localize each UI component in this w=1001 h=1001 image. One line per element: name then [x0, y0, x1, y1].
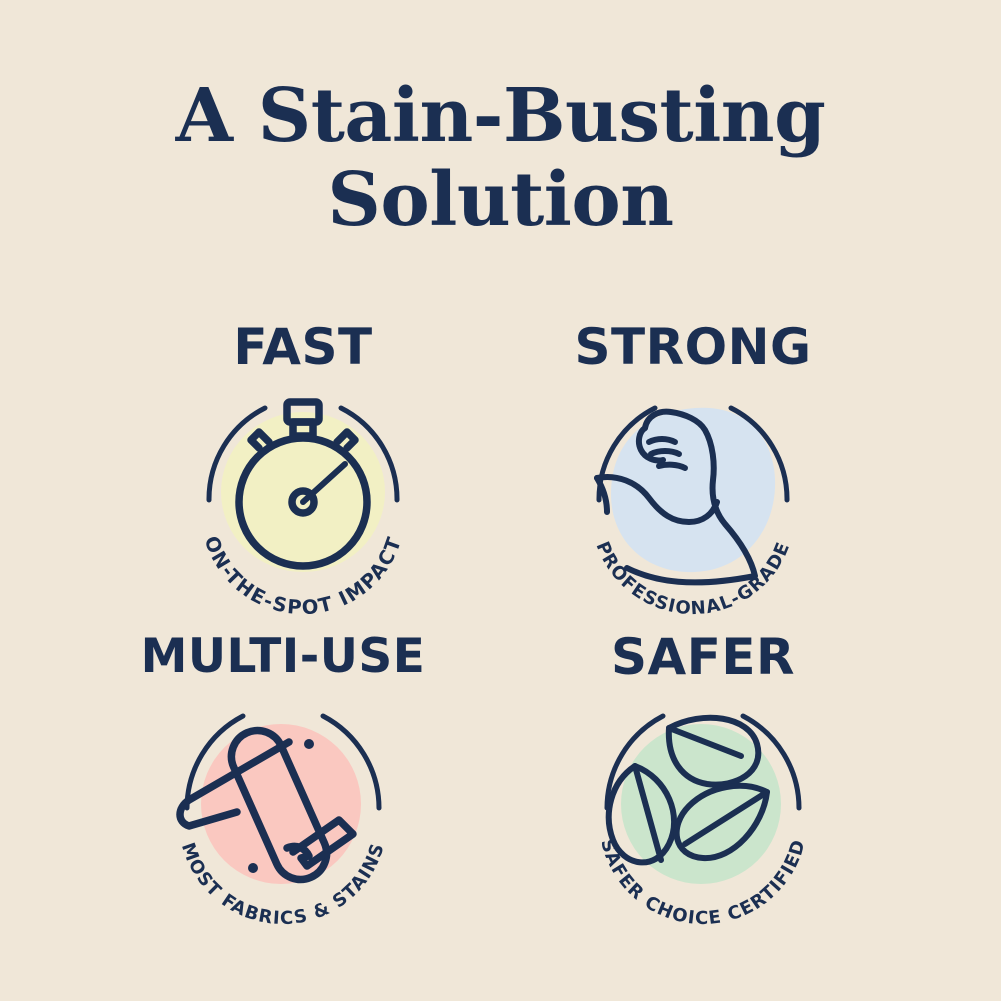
page-title-line-2: Solution: [0, 158, 1001, 242]
badge-fast-heading: FAST: [128, 320, 478, 374]
badge-safer-art: SAFER CHOICE CERTIFIED: [573, 682, 833, 940]
promo-graphic: A Stain-Busting Solution FAST: [0, 0, 1001, 1001]
badge-strong: STRONG: [518, 320, 868, 630]
badge-strong-blob: [611, 408, 775, 572]
badge-fast-art: ON-THE-SPOT IMPACT: [173, 372, 433, 630]
page-title-line-1: A Stain-Busting: [0, 74, 1001, 158]
badge-multi-use-heading: MULTI-USE: [108, 630, 458, 684]
badge-strong-heading: STRONG: [518, 320, 868, 374]
badge-multi-use-art: MOST FABRICS & STAINS: [153, 682, 413, 940]
badge-safer-heading: SAFER: [528, 630, 878, 684]
badge-safer: SAFER: [528, 630, 878, 940]
badge-fast: FAST: [128, 320, 478, 630]
page-title: A Stain-Busting Solution: [0, 74, 1001, 242]
badge-strong-art: PROFESSIONAL-GRADE: [563, 372, 823, 630]
badge-multi-use: MULTI-USE: [108, 630, 458, 940]
badge-grid: FAST: [0, 320, 1001, 980]
